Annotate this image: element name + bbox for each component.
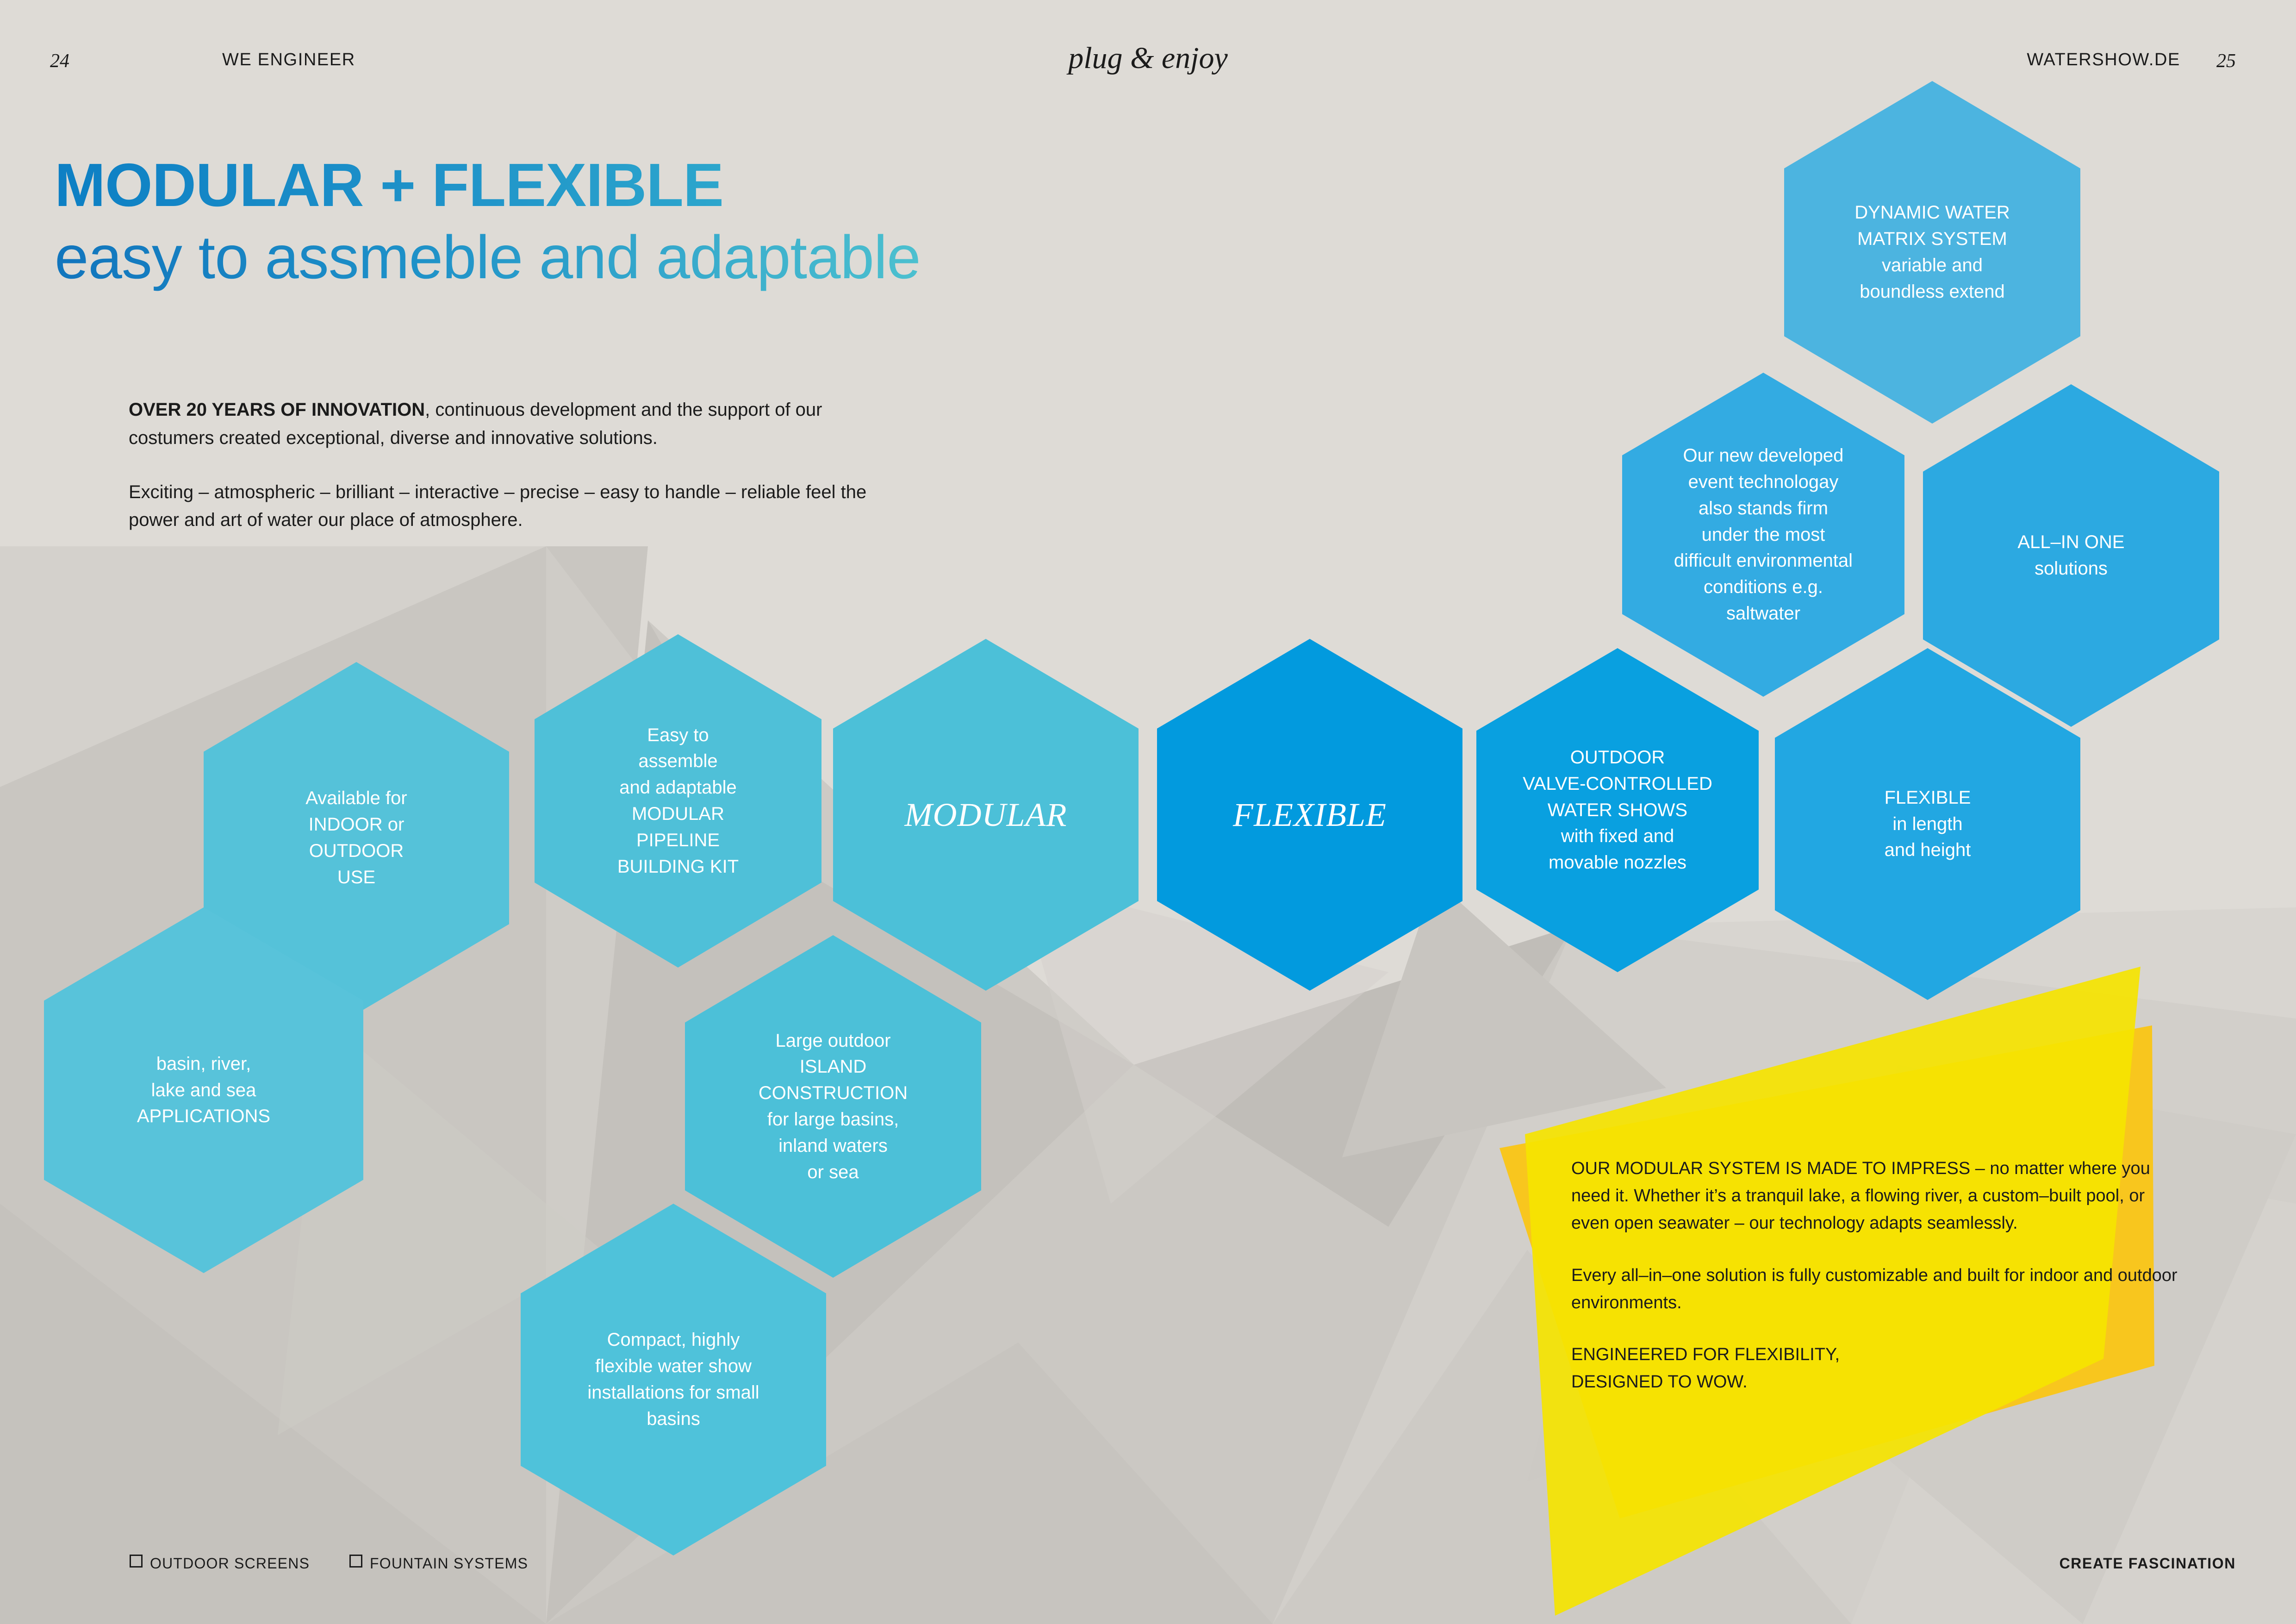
page-title-line-1: MODULAR + FLEXIBLE: [55, 153, 921, 218]
hexagon-label: Easy to assemble and adaptable MODULAR P…: [599, 722, 757, 880]
footer-tag-fountain-systems[interactable]: FOUNTAIN SYSTEMS: [349, 1555, 528, 1572]
hexagon-label: DYNAMIC WATER MATRIX SYSTEM variable and…: [1836, 200, 2028, 305]
square-bullet-icon: [349, 1555, 362, 1568]
hexagon-label: Large outdoor ISLAND CONSTRUCTION for la…: [740, 1028, 926, 1186]
header-label-right: WATERSHOW.DE: [2027, 50, 2180, 70]
footer-tag-1-label: OUTDOOR SCREENS: [150, 1555, 310, 1572]
square-bullet-icon: [130, 1555, 143, 1568]
hexagon-label: basin, river, lake and sea APPLICATIONS: [118, 1051, 289, 1130]
footer-tag-outdoor-screens[interactable]: OUTDOOR SCREENS: [130, 1555, 310, 1572]
footer-tag-2-label: FOUNTAIN SYSTEMS: [370, 1555, 528, 1572]
callout-text: OUR MODULAR SYSTEM IS MADE TO IMPRESS – …: [1571, 1155, 2182, 1396]
hexagon-label: FLEXIBLE in length and height: [1866, 785, 1990, 863]
callout-paragraph-3: ENGINEERED FOR FLEXIBILITY, DESIGNED TO …: [1571, 1341, 2182, 1396]
hexagon-label: ALL–IN ONE solutions: [1999, 529, 2143, 582]
hexagon-label: FLEXIBLE: [1214, 791, 1405, 838]
page-title: MODULAR + FLEXIBLE easy to assmeble and …: [55, 153, 921, 292]
callout-paragraph-2: Every all–in–one solution is fully custo…: [1571, 1262, 2182, 1317]
callout-paragraph-1: OUR MODULAR SYSTEM IS MADE TO IMPRESS – …: [1571, 1155, 2182, 1237]
hexagon-label: OUTDOOR VALVE-CONTROLLED WATER SHOWS wit…: [1504, 744, 1731, 876]
page-number-right: 25: [2216, 50, 2236, 72]
intro-lead: OVER 20 YEARS OF INNOVATION: [129, 400, 425, 420]
hexagon-label: Compact, highly flexible water show inst…: [569, 1327, 778, 1432]
header-tagline: plug & enjoy: [0, 41, 2296, 76]
intro-copy: OVER 20 YEARS OF INNOVATION, continuous …: [129, 396, 878, 534]
page-title-line-2: easy to assmeble and adaptable: [55, 223, 921, 292]
footer-slogan: CREATE FASCINATION: [2060, 1555, 2236, 1572]
hexagon-label: MODULAR: [886, 791, 1086, 838]
hexagon-label: Our new developed event technologay also…: [1655, 443, 1871, 627]
intro-paragraph-2: Exciting – atmospheric – brilliant – int…: [129, 478, 878, 535]
hexagon-label: Available for INDOOR or OUTDOOR USE: [287, 785, 425, 890]
intro-paragraph-1: OVER 20 YEARS OF INNOVATION, continuous …: [129, 396, 878, 452]
